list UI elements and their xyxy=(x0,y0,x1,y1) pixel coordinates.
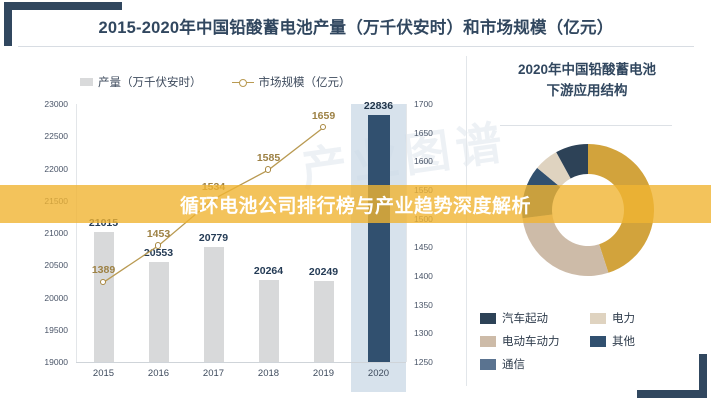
donut-legend-label: 电力 xyxy=(612,310,635,326)
market-size-line xyxy=(76,104,406,362)
y-axis-left-tick: 22000 xyxy=(28,164,68,174)
donut-legend-item-4[interactable]: 通信 xyxy=(480,356,590,372)
legend-label-market-size: 市场规模（亿元） xyxy=(259,74,351,90)
y-axis-left-tick: 20000 xyxy=(28,293,68,303)
y-axis-right-tick: 1700 xyxy=(414,99,454,109)
plot-area: 2101520553207792026420249228361389145315… xyxy=(20,100,460,390)
bar-line-legend: 产量（万千伏安时） 市场规模（亿元） xyxy=(80,74,351,90)
title-divider xyxy=(18,46,694,47)
donut-legend-swatch-icon xyxy=(480,313,496,324)
donut-legend-swatch-icon xyxy=(590,313,606,324)
donut-legend-label: 汽车起动 xyxy=(502,310,548,326)
line-swatch-icon xyxy=(232,78,254,87)
y-axis-left-tick: 19000 xyxy=(28,357,68,367)
line-value-label-2018: 1585 xyxy=(241,152,297,164)
y-axis-left-tick: 21000 xyxy=(28,228,68,238)
x-axis-line xyxy=(76,362,406,363)
y-axis-right-tick: 1250 xyxy=(414,357,454,367)
page-title: 2015-2020年中国铅酸蓄电池产量（万千伏安时）和市场规模（亿元） xyxy=(24,14,688,38)
donut-legend-item-0[interactable]: 汽车起动 xyxy=(480,310,590,326)
donut-slice-1[interactable] xyxy=(523,215,609,276)
legend-item-production[interactable]: 产量（万千伏安时） xyxy=(80,74,202,90)
y-axis-left-tick: 23000 xyxy=(28,99,68,109)
x-axis-tick: 2020 xyxy=(352,368,406,379)
y-axis-right-tick: 1350 xyxy=(414,300,454,310)
donut-legend-item-3[interactable]: 其他 xyxy=(590,333,700,349)
donut-legend-swatch-icon xyxy=(480,359,496,370)
y-axis-right-tick: 1450 xyxy=(414,242,454,252)
donut-title: 2020年中国铅酸蓄电池 下游应用结构 xyxy=(476,60,698,102)
y-axis-right-tick: 1600 xyxy=(414,156,454,166)
donut-legend-swatch-icon xyxy=(480,336,496,347)
plot-series-layer: 2101520553207792026420249228361389145315… xyxy=(76,104,406,362)
corner-bracket-top-left-v xyxy=(4,2,12,46)
promo-banner-text: 循环电池公司排行榜与产业趋势深度解析 xyxy=(180,191,531,218)
donut-legend-item-2[interactable]: 电动车动力 xyxy=(480,333,590,349)
y-axis-right-tick: 1400 xyxy=(414,271,454,281)
y-axis-right-tick: 1300 xyxy=(414,328,454,338)
donut-title-line2: 下游应用结构 xyxy=(476,81,698,102)
legend-label-production: 产量（万千伏安时） xyxy=(98,74,202,90)
y-axis-left-tick: 20500 xyxy=(28,260,68,270)
line-value-label-2016: 1453 xyxy=(131,228,187,240)
y-axis-right-tick: 1650 xyxy=(414,128,454,138)
donut-legend-item-1[interactable]: 电力 xyxy=(590,310,700,326)
line-value-label-2019: 1659 xyxy=(296,110,352,122)
bar-swatch-icon xyxy=(80,78,93,86)
x-axis-tick: 2017 xyxy=(187,368,241,379)
donut-title-line1: 2020年中国铅酸蓄电池 xyxy=(476,60,698,81)
donut-legend-swatch-icon xyxy=(590,336,606,347)
donut-legend: 汽车起动电力电动车动力其他通信 xyxy=(480,310,700,379)
donut-title-divider xyxy=(500,125,672,126)
corner-bracket-top-left xyxy=(4,2,122,10)
infographic-root: 2015-2020年中国铅酸蓄电池产量（万千伏安时）和市场规模（亿元） 产业图谱… xyxy=(0,0,711,400)
x-axis-tick: 2016 xyxy=(132,368,186,379)
promo-banner: 循环电池公司排行榜与产业趋势深度解析 xyxy=(0,185,711,223)
donut-legend-label: 电动车动力 xyxy=(502,333,560,349)
line-point-2016[interactable] xyxy=(155,242,162,249)
y-axis-right-line xyxy=(406,104,407,362)
y-axis-left-tick: 19500 xyxy=(28,325,68,335)
x-axis-tick: 2019 xyxy=(297,368,351,379)
x-axis-tick: 2015 xyxy=(77,368,131,379)
y-axis-left-tick: 22500 xyxy=(28,131,68,141)
donut-legend-label: 通信 xyxy=(502,356,525,372)
legend-item-market-size[interactable]: 市场规模（亿元） xyxy=(232,74,351,90)
donut-legend-label: 其他 xyxy=(612,333,635,349)
line-value-label-2015: 1389 xyxy=(76,264,132,276)
x-axis-tick: 2018 xyxy=(242,368,296,379)
